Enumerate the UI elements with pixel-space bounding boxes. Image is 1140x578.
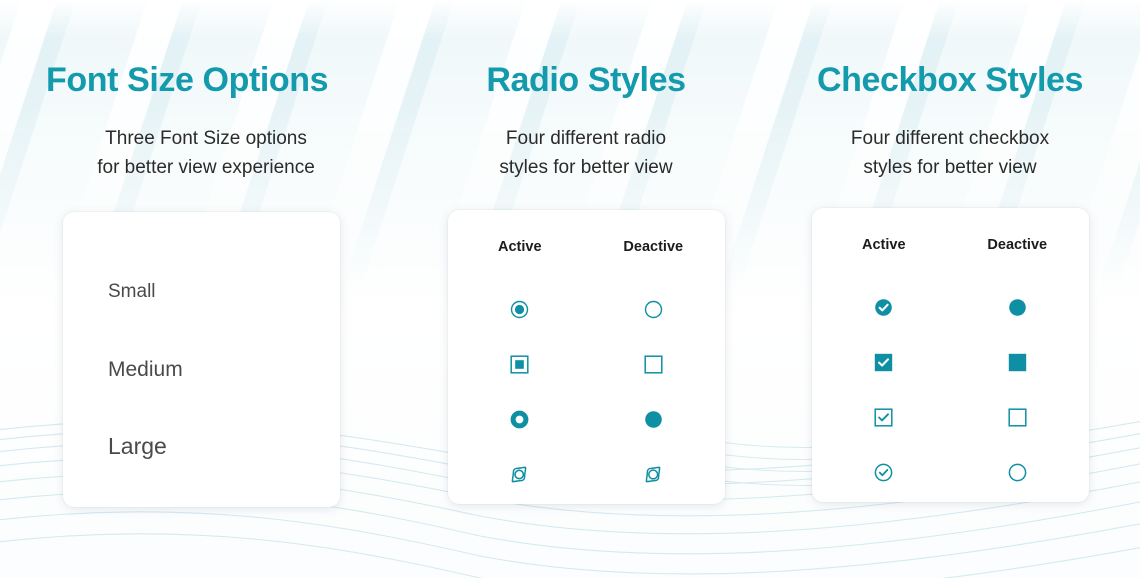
radio-deactive-cell-2[interactable] (586, 339, 725, 394)
radio-active-cell-3[interactable] (448, 394, 587, 449)
radio-column-header-active: Active (448, 210, 587, 284)
section-font-size-options: Font Size Options Three Font Size option… (0, 62, 412, 507)
font-size-option-medium[interactable]: Medium (108, 331, 340, 408)
radio-deactive-cell-1[interactable] (586, 284, 725, 339)
section-checkbox-styles: Checkbox Styles Four different checkbox … (760, 62, 1140, 507)
columns-container: Font Size Options Three Font Size option… (0, 0, 1140, 507)
page-title-radio-styles: Radio Styles (486, 62, 685, 99)
radio-circle-outline-icon[interactable] (644, 300, 663, 319)
font-size-option-small[interactable]: Small (108, 252, 340, 331)
page-title-font-size: Font Size Options (46, 62, 328, 99)
checkbox-row-1 (812, 282, 1089, 337)
card-font-size-options: Small Medium Large (63, 212, 340, 507)
checkbox-deactive-cell-4[interactable] (950, 447, 1089, 502)
circle-filled-icon[interactable] (1008, 298, 1027, 317)
checkbox-deactive-cell-3[interactable] (950, 392, 1089, 447)
page-title-checkbox-styles: Checkbox Styles (817, 62, 1083, 99)
checkbox-row-3 (812, 392, 1089, 447)
radio-column-header-deactive: Deactive (586, 210, 725, 284)
radio-row-2 (448, 339, 725, 394)
checkbox-column-header-deactive: Deactive (950, 208, 1089, 282)
section-radio-styles: Radio Styles Four different radio styles… (412, 62, 760, 507)
square-outline-icon[interactable] (1008, 408, 1027, 427)
circle-outline-icon[interactable] (1008, 463, 1027, 482)
checkbox-styles-table: Active Deactive (812, 208, 1089, 502)
square-filled-icon[interactable] (1008, 353, 1027, 372)
radio-table-header-row: Active Deactive (448, 210, 725, 284)
checkbox-active-cell-3[interactable] (812, 392, 951, 447)
radio-square-inner-icon[interactable] (510, 355, 529, 374)
radio-active-cell-1[interactable] (448, 284, 587, 339)
checkbox-table-header-row: Active Deactive (812, 208, 1089, 282)
checkbox-row-2 (812, 337, 1089, 392)
radio-circle-filled-icon[interactable] (644, 410, 663, 429)
radio-row-4 (448, 449, 725, 504)
radio-deactive-cell-3[interactable] (586, 394, 725, 449)
radio-square-outline-icon[interactable] (644, 355, 663, 374)
subtitle-checkbox-styles: Four different checkbox styles for bette… (790, 125, 1110, 182)
radio-row-1 (448, 284, 725, 339)
font-size-option-large[interactable]: Large (108, 408, 340, 485)
checkbox-row-4 (812, 447, 1089, 502)
radio-leaf-filled-icon[interactable] (509, 464, 530, 485)
subtitle-radio-styles: Four different radio styles for better v… (436, 125, 736, 182)
subtitle-font-size: Three Font Size options for better view … (46, 125, 366, 182)
radio-leaf-outline-icon[interactable] (643, 464, 664, 485)
radio-row-3 (448, 394, 725, 449)
radio-deactive-cell-4[interactable] (586, 449, 725, 504)
radio-active-cell-4[interactable] (448, 449, 587, 504)
radio-styles-table: Active Deactive (448, 210, 725, 504)
radio-donut-icon[interactable] (510, 410, 529, 429)
checkbox-active-cell-4[interactable] (812, 447, 951, 502)
checkbox-active-cell-1[interactable] (812, 282, 951, 337)
checkbox-deactive-cell-1[interactable] (950, 282, 1089, 337)
checkbox-deactive-cell-2[interactable] (950, 337, 1089, 392)
radio-ring-dot-icon[interactable] (510, 300, 529, 319)
check-circle-outline-icon[interactable] (874, 463, 893, 482)
check-circle-filled-icon[interactable] (874, 298, 893, 317)
checkbox-active-cell-2[interactable] (812, 337, 951, 392)
checkbox-column-header-active: Active (812, 208, 951, 282)
check-square-outline-icon[interactable] (874, 408, 893, 427)
check-square-filled-icon[interactable] (874, 353, 893, 372)
card-radio-styles: Active Deactive (448, 210, 725, 504)
radio-active-cell-2[interactable] (448, 339, 587, 394)
card-checkbox-styles: Active Deactive (812, 208, 1089, 502)
